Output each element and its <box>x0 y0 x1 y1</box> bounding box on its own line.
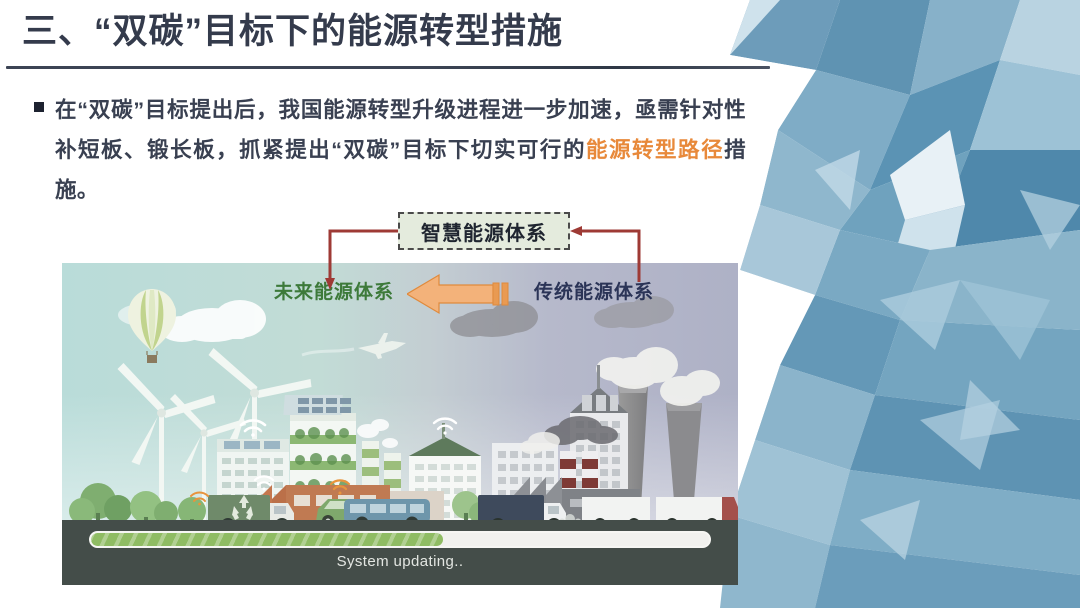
body-text-highlight: 能源转型路径 <box>586 138 724 162</box>
page-title: 三、“双碳”目标下的能源转型措施 <box>22 8 563 56</box>
body-paragraph: 在“双碳”目标提出后，我国能源转型升级进程进一步加速，亟需针对性补短板、锻长板，… <box>55 90 746 210</box>
progress-bar-fill <box>91 533 443 546</box>
slide-root: 三、“双碳”目标下的能源转型措施 在“双碳”目标提出后，我国能源转型升级进程进一… <box>0 0 1080 608</box>
traditional-energy-system-label: 传统能源体系 <box>534 277 654 304</box>
smart-energy-system-callout[interactable]: 智慧能源体系 <box>398 212 570 250</box>
polygon-background-decoration <box>720 0 1080 608</box>
future-energy-system-label: 未来能源体系 <box>274 277 394 304</box>
bullet-row: 在“双碳”目标提出后，我国能源转型升级进程进一步加速，亟需针对性补短板、锻长板，… <box>34 90 746 210</box>
solar-panel-icon <box>283 395 351 415</box>
title-block: 三、“双碳”目标下的能源转型措施 <box>0 0 790 72</box>
progress-strip: System updating.. <box>62 520 738 585</box>
callout-label: 智慧能源体系 <box>421 217 547 246</box>
energy-transition-illustration: 未来能源体系 传统能源体系 System updating.. <box>62 263 738 585</box>
progress-bar-track[interactable] <box>89 531 711 548</box>
square-bullet-icon <box>34 102 44 112</box>
progress-status-text: System updating.. <box>62 553 738 570</box>
title-underline-divider <box>6 66 770 69</box>
body-block: 在“双碳”目标提出后，我国能源转型升级进程进一步加速，亟需针对性补短板、锻长板，… <box>34 90 746 210</box>
transition-arrow-icon <box>407 273 512 315</box>
